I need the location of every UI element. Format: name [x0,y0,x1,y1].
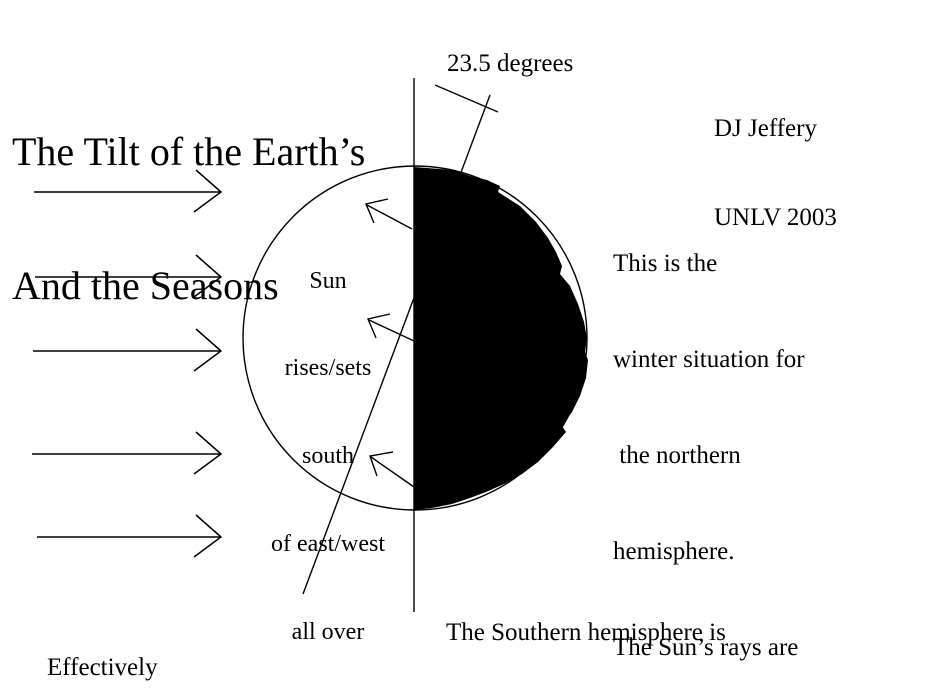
southern-summer-note: The Southern hemisphere is enjoying summ… [446,553,797,691]
sun-note-line5: all over [240,618,416,647]
southern-note-line1: The Southern hemisphere is [446,617,797,649]
tilt-degrees-label: 23.5 degrees [447,50,573,77]
rays-note-line1: Effectively [47,652,225,684]
author-name: DJ Jeffery [714,114,837,144]
sun-note-line1: Sun [240,267,416,296]
sun-rise-set-note: Sun rises/sets south of east/west all ov… [240,208,416,691]
earth-night-half [414,167,588,510]
sun-note-line3: south [240,442,416,471]
sun-ray-4 [32,432,221,474]
page-title-line1: The Tilt of the Earth’s [12,130,365,175]
winter-note-line1: This is the [613,248,807,280]
sun-note-line4: of east/west [240,530,416,559]
sun-note-line2: rises/sets [240,354,416,383]
sun-ray-5 [37,515,221,557]
winter-note-line3: the northern [613,440,807,472]
parallel-rays-note: Effectively parallel rays from the dista… [47,588,225,691]
earth-tilt-seasons-diagram: The Tilt of the Earth’s And the Seasons … [0,0,939,691]
winter-note-line2: winter situation for [613,344,807,376]
